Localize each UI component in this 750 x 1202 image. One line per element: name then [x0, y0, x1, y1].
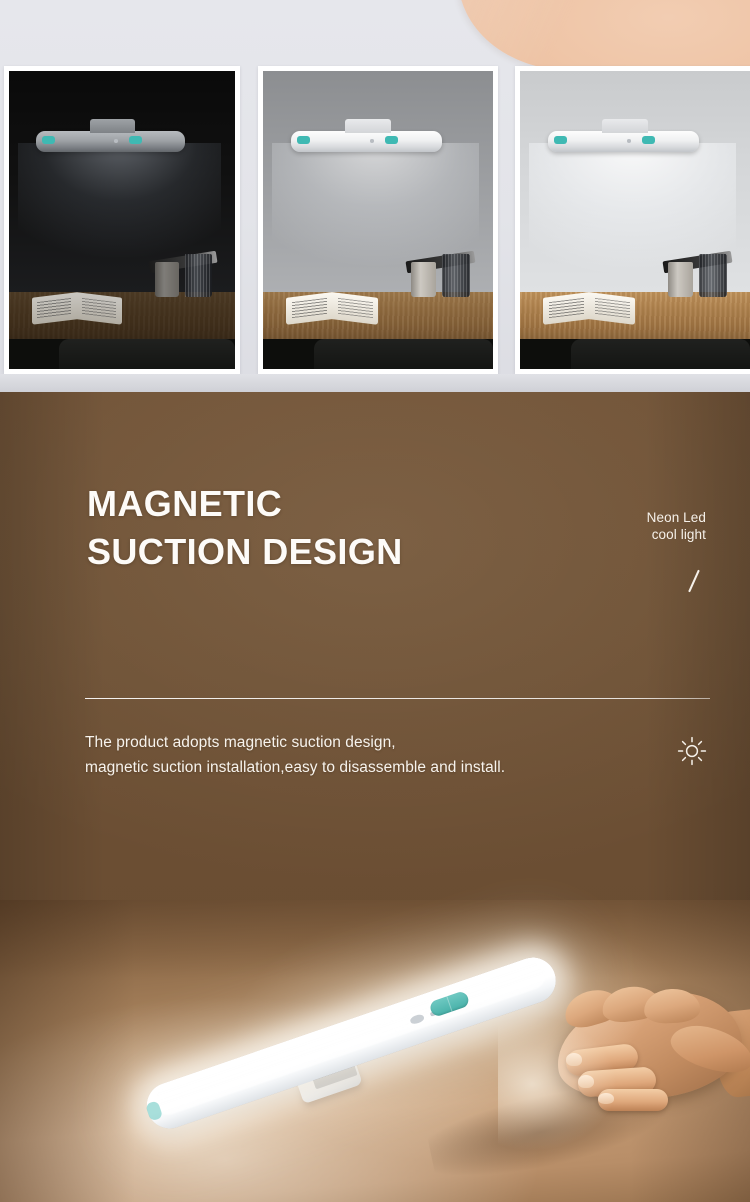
- gallery-base-strip: [0, 374, 750, 392]
- gallery-panel-dim[interactable]: [4, 66, 240, 374]
- wall-lamp: [291, 131, 443, 152]
- fingernail: [566, 1053, 582, 1066]
- decorative-hand-crop: [458, 0, 750, 70]
- chair: [59, 339, 235, 369]
- chair: [571, 339, 750, 369]
- product-detail-page: MAGNETIC SUCTION DESIGN Neon Led cool li…: [0, 0, 750, 1202]
- mesh-pen-cup: [185, 254, 212, 297]
- chair: [314, 339, 493, 369]
- lamp-button-left: [297, 136, 311, 144]
- lamp-button-right: [385, 136, 399, 144]
- lighting-modes-gallery: [0, 0, 750, 392]
- photo-bright-mode: [520, 71, 750, 369]
- lamp-button-left: [554, 136, 568, 144]
- lamp-mount: [602, 119, 648, 132]
- slash-mark-icon: [682, 568, 706, 594]
- lamp-button-right: [642, 136, 656, 144]
- fingernail: [578, 1075, 594, 1088]
- wall-lamp: [548, 131, 700, 152]
- divider: [85, 698, 710, 699]
- page-title: MAGNETIC SUCTION DESIGN: [87, 480, 403, 576]
- desk-scene: [263, 71, 493, 369]
- mesh-pen-cup: [442, 254, 470, 297]
- lamp-indicator: [114, 139, 118, 143]
- lamp-button-right: [129, 136, 142, 144]
- open-book: [32, 295, 122, 322]
- ceramic-pen-cup: [411, 262, 435, 298]
- hand: [520, 985, 750, 1145]
- desk-scene: [9, 71, 235, 369]
- feature-description: The product adopts magnetic suction desi…: [85, 730, 505, 780]
- gallery-panel-medium[interactable]: [258, 66, 498, 374]
- open-book: [286, 295, 378, 322]
- lamp-mount: [345, 119, 391, 132]
- wall-lamp: [36, 131, 185, 152]
- open-book: [543, 295, 635, 322]
- photo-dim-mode: [9, 71, 235, 369]
- ceramic-pen-cup: [155, 262, 179, 298]
- desk-scene: [520, 71, 750, 369]
- sun-icon: [677, 736, 707, 766]
- mesh-pen-cup: [699, 254, 727, 297]
- gallery-strip: [0, 66, 750, 374]
- photo-medium-mode: [263, 71, 493, 369]
- kicker-label: Neon Led cool light: [647, 509, 706, 543]
- lamp-button-left: [42, 136, 55, 144]
- lamp-indicator: [627, 139, 632, 143]
- ceramic-pen-cup: [668, 262, 692, 298]
- gallery-panel-bright[interactable]: [515, 66, 750, 374]
- lamp-indicator: [370, 139, 375, 143]
- fingernail: [598, 1093, 614, 1104]
- lamp-mount: [90, 119, 135, 132]
